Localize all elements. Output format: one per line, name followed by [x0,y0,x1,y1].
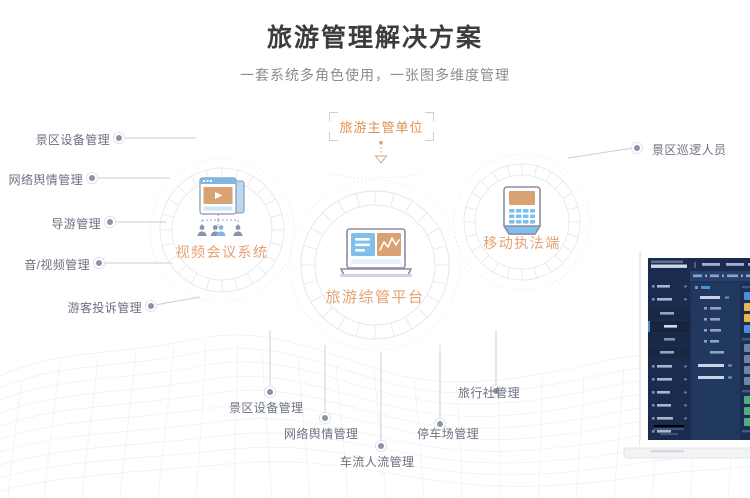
corner-bracket-bottom-right [425,132,434,141]
node-label-left-3[interactable]: 音/视频管理 [0,256,90,273]
page-title: 旅游管理解决方案 [0,22,750,54]
gov-unit-label: 旅游主管单位 [330,113,433,140]
node-label-left-1[interactable]: 网络舆情管理 [0,171,83,188]
corner-bracket-bottom-left [329,132,338,141]
corner-bracket-top-left [329,112,338,121]
laptop-device-mockup [622,252,750,498]
laptop-dashboard-icon [338,228,414,287]
node-label-right-0[interactable]: 景区巡逻人员 [652,141,726,158]
node-label-bottom-0[interactable]: 景区设备管理 [229,399,303,416]
hub-caption-video-conference: 视频会议系统 [176,242,269,262]
laptop-trackpad-notch [650,450,684,452]
node-label-left-4[interactable]: 游客投诉管理 [0,299,142,316]
node-label-left-0[interactable]: 景区设备管理 [0,131,110,148]
page-subtitle: 一套系统多角色使用，一张图多维度管理 [0,65,750,85]
hub-caption-tourism-platform: 旅游综管平台 [325,286,424,307]
node-label-bottom-3[interactable]: 停车场管理 [417,425,479,442]
gov-arrow-connector [330,141,424,178]
hub-caption-mobile-enforcement: 移动执法端 [483,233,561,253]
corner-bracket-top-right [425,112,434,121]
node-label-bottom-4[interactable]: 旅行社管理 [458,384,520,401]
node-label-left-2[interactable]: 导游管理 [0,215,101,232]
gov-unit-box[interactable]: 旅游主管单位 [330,113,433,140]
node-label-bottom-2[interactable]: 车流人流管理 [340,453,414,470]
video-window-icon [193,176,253,243]
right-connectors [568,148,633,158]
node-label-bottom-1[interactable]: 网络舆情管理 [284,425,358,442]
page-header: 旅游管理解决方案 一套系统多角色使用，一张图多维度管理 [0,22,750,85]
page-root: 旅游管理解决方案 一套系统多角色使用，一张图多维度管理 [0,0,750,498]
left-connectors [96,138,200,305]
